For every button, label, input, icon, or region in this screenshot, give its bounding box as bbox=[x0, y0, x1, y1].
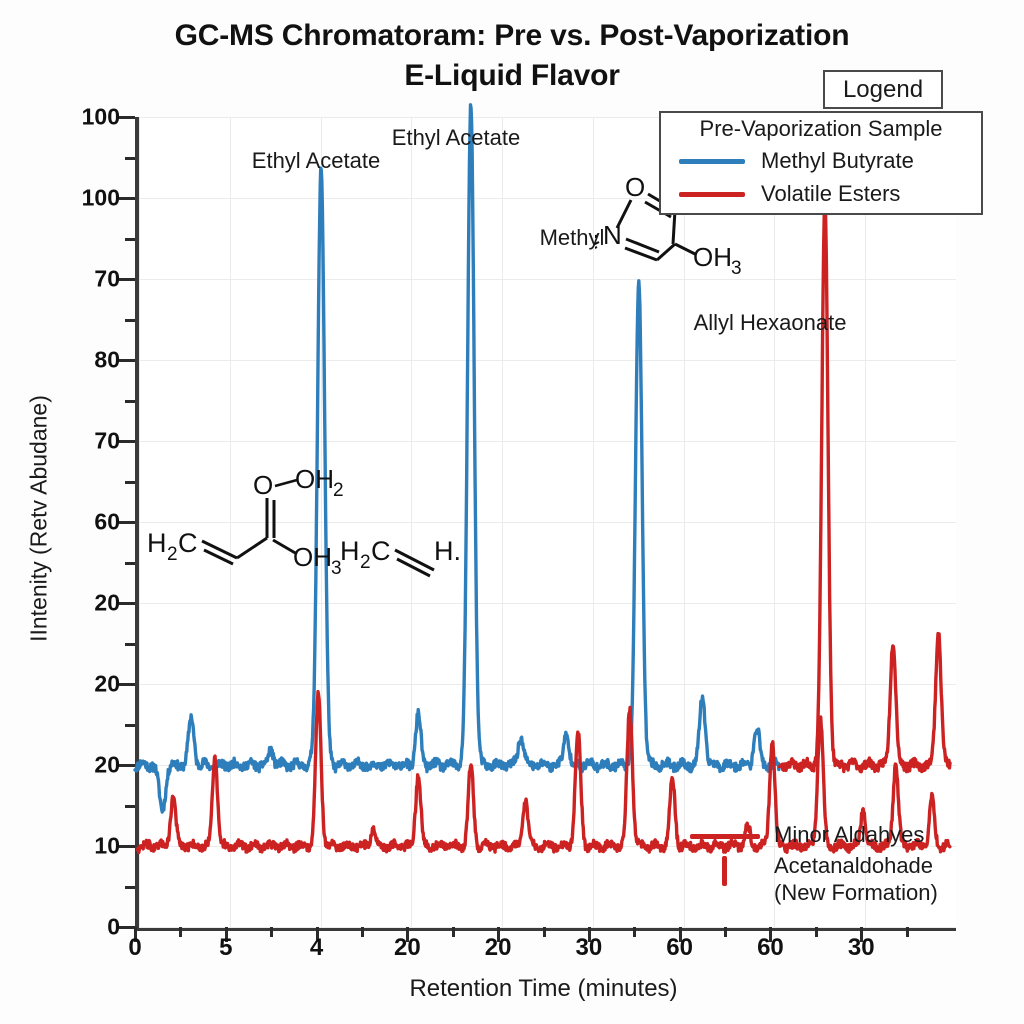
legend-header: Pre-Vaporization Sample bbox=[661, 116, 981, 142]
y-tick-minor bbox=[125, 157, 135, 160]
title-line-1: GC-MS Chromatoram: Pre vs. Post-Vaporiza… bbox=[60, 16, 964, 56]
y-tick-label: 60 bbox=[60, 509, 120, 536]
x-tick-label: 0 bbox=[105, 934, 165, 962]
svg-text:O: O bbox=[625, 172, 645, 202]
y-tick-minor bbox=[125, 805, 135, 808]
x-tick-label: 60 bbox=[740, 934, 800, 962]
legend-label-line-2: (New Formation) bbox=[774, 880, 938, 905]
y-tick-label: 100 bbox=[60, 104, 120, 131]
peak-annotation: Ethyl Acetate bbox=[252, 148, 380, 174]
legend-secondary: Minor Aldahyes Acetanaldohade (New Forma… bbox=[690, 822, 960, 910]
y-tick-major bbox=[119, 440, 135, 443]
y-tick-label: 70 bbox=[60, 266, 120, 293]
y-tick-minor bbox=[125, 886, 135, 889]
y-tick-label: 10 bbox=[60, 833, 120, 860]
y-tick-label: 20 bbox=[60, 671, 120, 698]
legend-item-volatile-esters[interactable]: Volatile Esters bbox=[679, 181, 900, 207]
legend-swatch-blue bbox=[679, 159, 745, 164]
svg-text:OH: OH bbox=[293, 542, 332, 572]
chromatogram-figure: GC-MS Chromatoram: Pre vs. Post-Vaporiza… bbox=[0, 0, 1024, 1024]
svg-text:O: O bbox=[253, 470, 273, 500]
y-tick-minor bbox=[125, 562, 135, 565]
y-tick-minor bbox=[125, 643, 135, 646]
y-tick-label: 20 bbox=[60, 590, 120, 617]
y-axis-label: IIntenity (Retv Abudane) bbox=[26, 309, 53, 729]
svg-text:OH: OH bbox=[295, 464, 334, 494]
y-tick-major bbox=[119, 359, 135, 362]
x-tick-label: 4 bbox=[287, 934, 347, 962]
legend-label: Minor Aldahyes bbox=[774, 822, 924, 849]
y-tick-major bbox=[119, 845, 135, 848]
chem-structure-ethene: H 2 C H. bbox=[338, 528, 468, 588]
svg-text:H: H bbox=[340, 536, 360, 566]
x-axis-ticks bbox=[135, 927, 952, 928]
y-tick-major bbox=[119, 278, 135, 281]
y-tick-label: 100 bbox=[60, 185, 120, 212]
legend-label-line-1: Acetanaldohade bbox=[774, 853, 933, 878]
y-tick-major bbox=[119, 521, 135, 524]
y-tick-major bbox=[119, 602, 135, 605]
legend-swatch-red bbox=[679, 192, 745, 197]
svg-text:C: C bbox=[178, 528, 198, 558]
y-tick-label: 70 bbox=[60, 428, 120, 455]
y-tick-minor bbox=[125, 481, 135, 484]
legend-label: Volatile Esters bbox=[761, 181, 900, 207]
peak-annotation: Methyl bbox=[540, 225, 605, 251]
x-axis-label: Retention Time (minutes) bbox=[135, 975, 952, 1003]
x-tick-label: 5 bbox=[196, 934, 256, 962]
legend-title: Logend bbox=[823, 70, 943, 109]
svg-text:H.: H. bbox=[434, 536, 461, 566]
x-tick-label: 30 bbox=[559, 934, 619, 962]
svg-text:3: 3 bbox=[731, 258, 742, 278]
svg-text:2: 2 bbox=[360, 552, 371, 573]
y-tick-label: 80 bbox=[60, 347, 120, 374]
legend-item-methyl-butyrate[interactable]: Methyl Butyrate bbox=[679, 148, 914, 174]
y-tick-minor bbox=[125, 319, 135, 322]
legend-swatch-red-line bbox=[690, 834, 760, 839]
y-tick-major bbox=[119, 764, 135, 767]
peak-annotation: Ethyl Acetate bbox=[392, 125, 520, 151]
legend-swatch-red-tick bbox=[690, 853, 760, 887]
svg-text:H: H bbox=[147, 528, 167, 558]
legend-label: Methyl Butyrate bbox=[761, 148, 914, 174]
trace-upper-red-tail bbox=[780, 198, 950, 772]
y-tick-minor bbox=[125, 238, 135, 241]
y-tick-major bbox=[119, 926, 135, 929]
svg-text:2: 2 bbox=[333, 480, 344, 501]
y-tick-major bbox=[119, 197, 135, 200]
x-tick-label: 30 bbox=[831, 934, 891, 962]
y-tick-major bbox=[119, 116, 135, 119]
svg-text:2: 2 bbox=[167, 544, 178, 565]
svg-text:N: N bbox=[603, 220, 622, 250]
legend-item-acetanaldohade[interactable]: Acetanaldohade (New Formation) bbox=[690, 853, 960, 907]
x-tick-label: 60 bbox=[650, 934, 710, 962]
x-tick-label: 20 bbox=[377, 934, 437, 962]
svg-text:C: C bbox=[371, 536, 391, 566]
svg-text:OH: OH bbox=[693, 242, 732, 272]
y-tick-minor bbox=[125, 724, 135, 727]
legend: Pre-Vaporization Sample Methyl Butyrate … bbox=[659, 111, 983, 215]
y-tick-minor bbox=[125, 400, 135, 403]
x-tick-label: 20 bbox=[468, 934, 528, 962]
x-tick-labels: 054202030606030 bbox=[0, 934, 1024, 974]
peak-annotation: Allyl Hexaonate bbox=[694, 310, 847, 336]
y-tick-label: 20 bbox=[60, 752, 120, 779]
y-tick-labels: 10010070807060202020100 bbox=[52, 0, 120, 1024]
y-tick-major bbox=[119, 683, 135, 686]
chem-structure-acrylic-acid: H 2 C O OH 2 OH 3 bbox=[145, 462, 345, 592]
legend-item-minor-aldahyes[interactable]: Minor Aldahyes bbox=[690, 822, 960, 849]
